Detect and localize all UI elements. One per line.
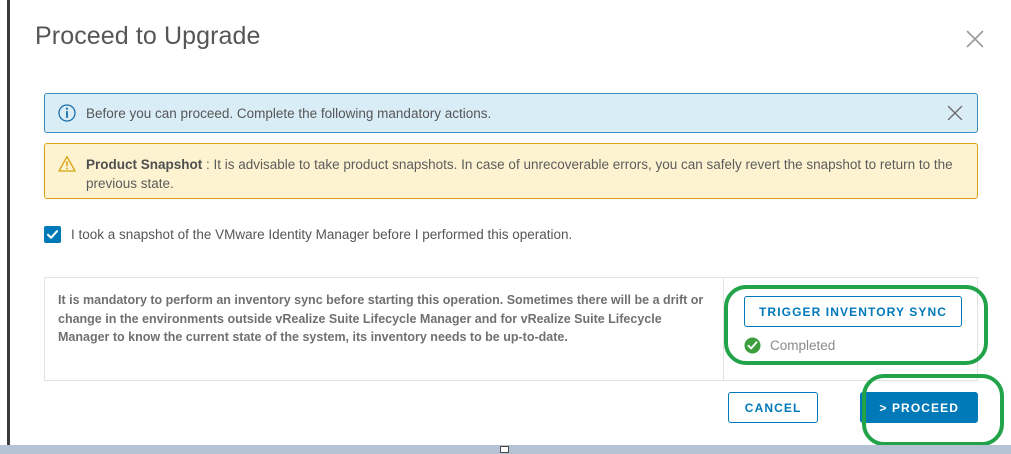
info-alert-close-icon[interactable] [945,103,965,123]
page-title: Proceed to Upgrade [35,22,261,51]
inventory-sync-status: Completed [744,337,977,354]
snapshot-confirmation-row[interactable]: I took a snapshot of the VMware Identity… [44,226,572,243]
success-check-circle-icon [744,337,761,354]
snapshot-checkbox[interactable] [44,226,61,243]
window-left-edge [7,0,10,447]
inventory-sync-description: It is mandatory to perform an inventory … [45,278,723,380]
proceed-button[interactable]: > PROCEED [860,392,978,423]
warning-alert-message: Product Snapshot : It is advisable to ta… [86,144,977,193]
warning-alert: Product Snapshot : It is advisable to ta… [44,143,978,199]
info-circle-icon [58,104,76,122]
cancel-button[interactable]: CANCEL [728,392,819,423]
dialog-close-icon[interactable] [964,28,986,50]
dialog-footer: CANCEL > PROCEED [44,392,978,423]
info-alert-message: Before you can proceed. Complete the fol… [86,94,945,123]
trigger-inventory-sync-button[interactable]: TRIGGER INVENTORY SYNC [744,296,962,327]
snapshot-checkbox-label: I took a snapshot of the VMware Identity… [71,227,572,242]
inventory-sync-action-area: TRIGGER INVENTORY SYNC Completed [724,278,977,380]
inventory-sync-panel: It is mandatory to perform an inventory … [44,277,978,381]
info-alert: Before you can proceed. Complete the fol… [44,93,978,133]
dialog-header: Proceed to Upgrade [11,0,1008,82]
warning-alert-body: : It is advisable to take product snapsh… [86,157,953,191]
warning-alert-label: Product Snapshot [86,157,202,172]
horizontal-scrollbar-thumb[interactable] [500,446,509,453]
screenshot-root: Proceed to Upgrade Before you can procee… [0,0,1011,454]
status-badge: Completed [770,338,835,353]
proceed-to-upgrade-dialog: Proceed to Upgrade Before you can procee… [11,0,1008,445]
warning-triangle-icon [58,155,76,173]
